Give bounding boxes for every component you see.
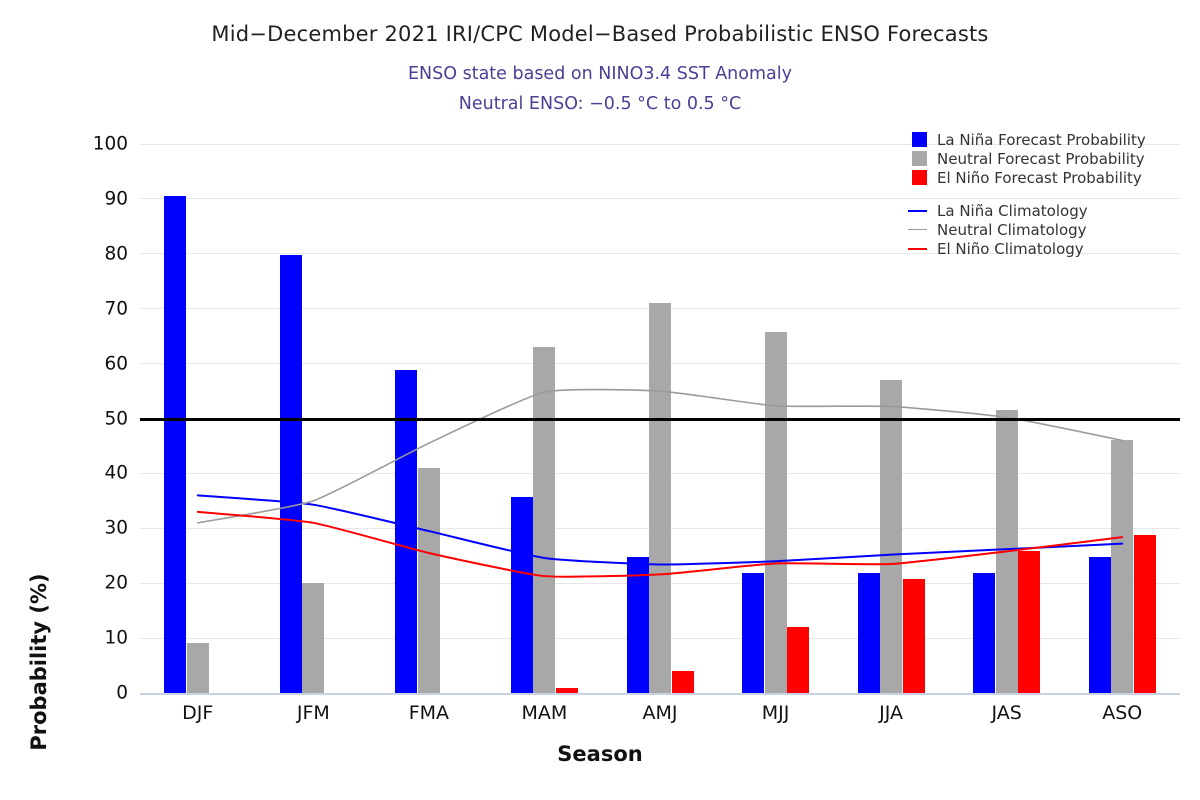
x-tick-label-aso: ASO	[1042, 702, 1200, 724]
bar-neutral-djf	[187, 643, 209, 693]
bar-lanina-mjj	[742, 573, 764, 693]
y-tick-label: 50	[8, 408, 128, 429]
legend-swatch-gray-icon	[912, 151, 927, 166]
legend-item-bar[interactable]: Neutral Forecast Probability	[912, 149, 1180, 168]
legend-line-stroke	[908, 210, 927, 212]
legend-line-stroke	[908, 229, 927, 231]
bar-lanina-jja	[858, 573, 880, 693]
subtitle-enso-state: ENSO state based on NINO3.4 SST Anomaly	[0, 64, 1200, 84]
y-tick-label: 80	[8, 243, 128, 264]
y-tick-label: 90	[8, 188, 128, 209]
legend-line-stroke	[908, 248, 927, 250]
bar-lanina-djf	[164, 196, 186, 693]
legend-label: La Niña Climatology	[937, 202, 1088, 220]
bar-elnino-jas	[1018, 551, 1040, 693]
subtitle-neutral-range: Neutral ENSO: −0.5 °C to 0.5 °C	[0, 94, 1200, 114]
bar-elnino-jja	[903, 579, 925, 693]
bar-lanina-aso	[1089, 557, 1111, 693]
legend-swatch-blue-icon	[912, 132, 927, 147]
bar-lanina-jfm	[280, 255, 302, 693]
bar-lanina-jas	[973, 573, 995, 693]
bar-neutral-amj	[649, 303, 671, 693]
legend-item-line[interactable]: La Niña Climatology	[912, 201, 1180, 220]
legend-label: Neutral Climatology	[937, 221, 1087, 239]
bar-elnino-amj	[672, 671, 694, 693]
y-tick-label: 10	[8, 628, 128, 649]
legend-swatch-red-icon	[912, 170, 927, 185]
y-tick-label: 0	[8, 683, 128, 704]
legend-item-line[interactable]: El Niño Climatology	[912, 239, 1180, 258]
y-tick-label: 20	[8, 573, 128, 594]
bar-elnino-aso	[1134, 535, 1156, 693]
x-axis-title: Season	[0, 742, 1200, 766]
bar-neutral-jfm	[302, 583, 324, 693]
bar-elnino-mam	[556, 688, 578, 693]
bar-neutral-aso	[1111, 440, 1133, 693]
bar-neutral-mam	[533, 347, 555, 693]
y-tick-label: 70	[8, 298, 128, 319]
y-tick-label: 40	[8, 463, 128, 484]
bar-elnino-mjj	[787, 627, 809, 693]
bar-neutral-mjj	[765, 332, 787, 693]
bar-lanina-mam	[511, 497, 533, 693]
page-title: Mid−December 2021 IRI/CPC Model−Based Pr…	[0, 22, 1200, 46]
bar-neutral-jja	[880, 380, 902, 693]
y-tick-label: 100	[8, 134, 128, 155]
legend-item-line[interactable]: Neutral Climatology	[912, 220, 1180, 239]
legend-line-gray-icon	[912, 222, 927, 237]
legend-line-red-icon	[912, 241, 927, 256]
bar-neutral-jas	[996, 410, 1018, 693]
legend-label: Neutral Forecast Probability	[937, 150, 1145, 168]
legend-line-blue-icon	[912, 203, 927, 218]
y-tick-label: 30	[8, 518, 128, 539]
legend-label: La Niña Forecast Probability	[937, 131, 1146, 149]
legend-label: El Niño Forecast Probability	[937, 169, 1142, 187]
legend-divider	[912, 187, 1180, 201]
reference-line-50	[140, 418, 1180, 421]
legend-item-bar[interactable]: La Niña Forecast Probability	[912, 130, 1180, 149]
bar-lanina-amj	[627, 557, 649, 693]
legend-item-bar[interactable]: El Niño Forecast Probability	[912, 168, 1180, 187]
enso-forecast-chart: Mid−December 2021 IRI/CPC Model−Based Pr…	[0, 0, 1200, 800]
y-tick-label: 60	[8, 353, 128, 374]
legend-label: El Niño Climatology	[937, 240, 1084, 258]
chart-legend: La Niña Forecast ProbabilityNeutral Fore…	[912, 130, 1180, 258]
bar-neutral-fma	[418, 468, 440, 693]
y-axis-tick-labels: 0102030405060708090100	[0, 144, 128, 693]
